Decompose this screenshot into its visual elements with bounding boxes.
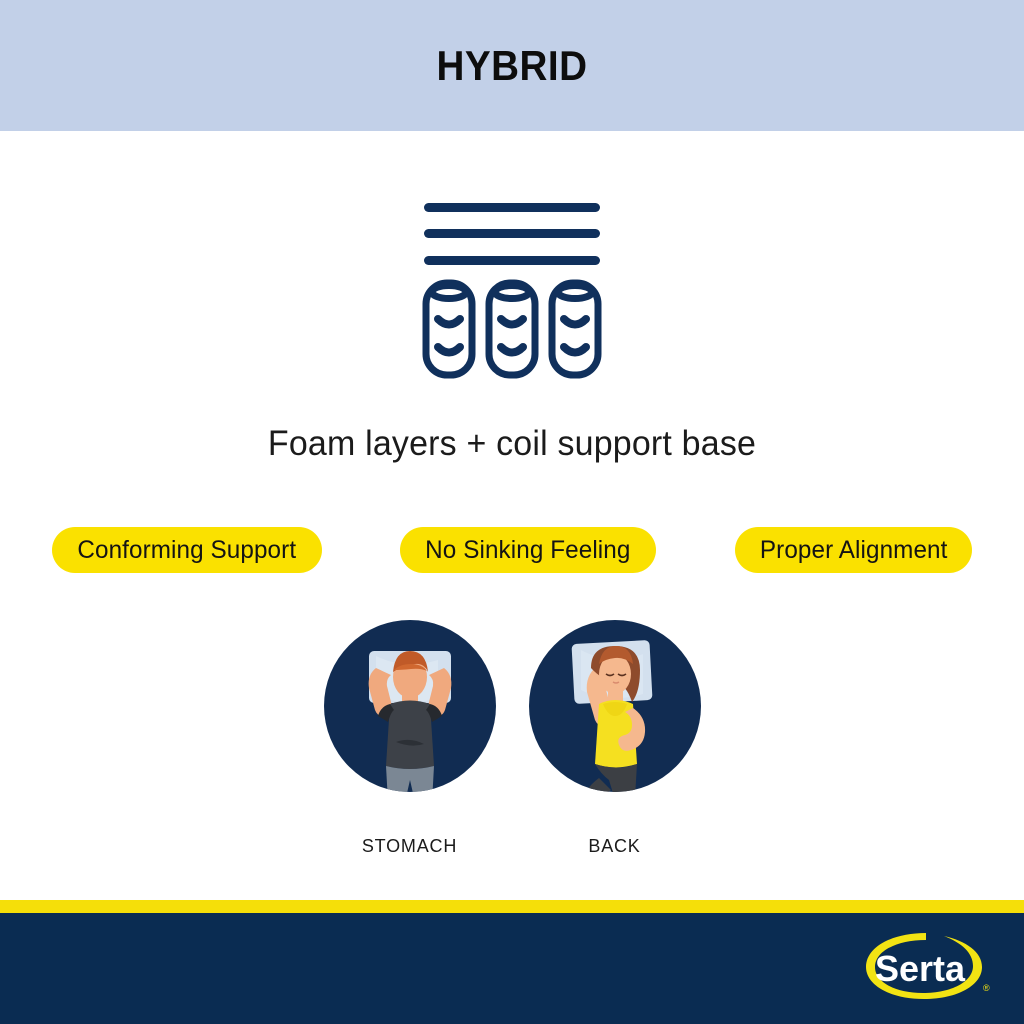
serta-wordmark: Serta [875, 948, 966, 989]
sleep-position-stomach: STOMACH [324, 620, 496, 857]
feature-pill-proper-alignment[interactable]: Proper Alignment [735, 527, 972, 573]
hybrid-mattress-infographic: HYBRID [0, 0, 1024, 1024]
sleep-positions-row: STOMACH [0, 620, 1024, 857]
back-sleeper-circle [529, 620, 701, 792]
page-title: HYBRID [437, 42, 588, 90]
sleep-position-label: BACK [588, 836, 640, 857]
feature-pill-label: Proper Alignment [760, 536, 948, 565]
footer-accent-stripe [0, 900, 1024, 913]
stomach-sleeper-illustration [324, 620, 496, 792]
feature-pill-conforming-support[interactable]: Conforming Support [52, 527, 322, 573]
foam-layer-line-1 [424, 203, 600, 212]
foam-layer-line-2 [424, 229, 600, 238]
sleep-position-label: STOMACH [362, 836, 457, 857]
support-coil-2 [489, 283, 535, 375]
feature-pill-label: Conforming Support [77, 536, 296, 565]
feature-pill-label: No Sinking Feeling [425, 536, 630, 565]
feature-pill-no-sinking-feeling[interactable]: No Sinking Feeling [400, 527, 656, 573]
shorts [386, 766, 434, 792]
foam-layer-line-3 [424, 256, 600, 265]
hybrid-icon-container [0, 185, 1024, 385]
registered-mark: ® [983, 983, 990, 993]
feature-pill-row: Conforming Support No Sinking Feeling Pr… [52, 527, 972, 573]
serta-logo[interactable]: Serta ® [852, 925, 1002, 1015]
support-coil-1 [426, 283, 472, 375]
stomach-sleeper-circle [324, 620, 496, 792]
back-sleeper-illustration [529, 620, 701, 792]
serta-logo-mark: Serta ® [852, 925, 1002, 1015]
shorts [581, 764, 637, 792]
sleep-position-back: BACK [529, 620, 701, 857]
torso-shirt [378, 701, 442, 770]
header-band: HYBRID [0, 0, 1024, 131]
support-coil-3 [552, 283, 598, 375]
hybrid-mattress-icon [412, 185, 612, 385]
subtitle-text: Foam layers + coil support base [15, 424, 1008, 464]
